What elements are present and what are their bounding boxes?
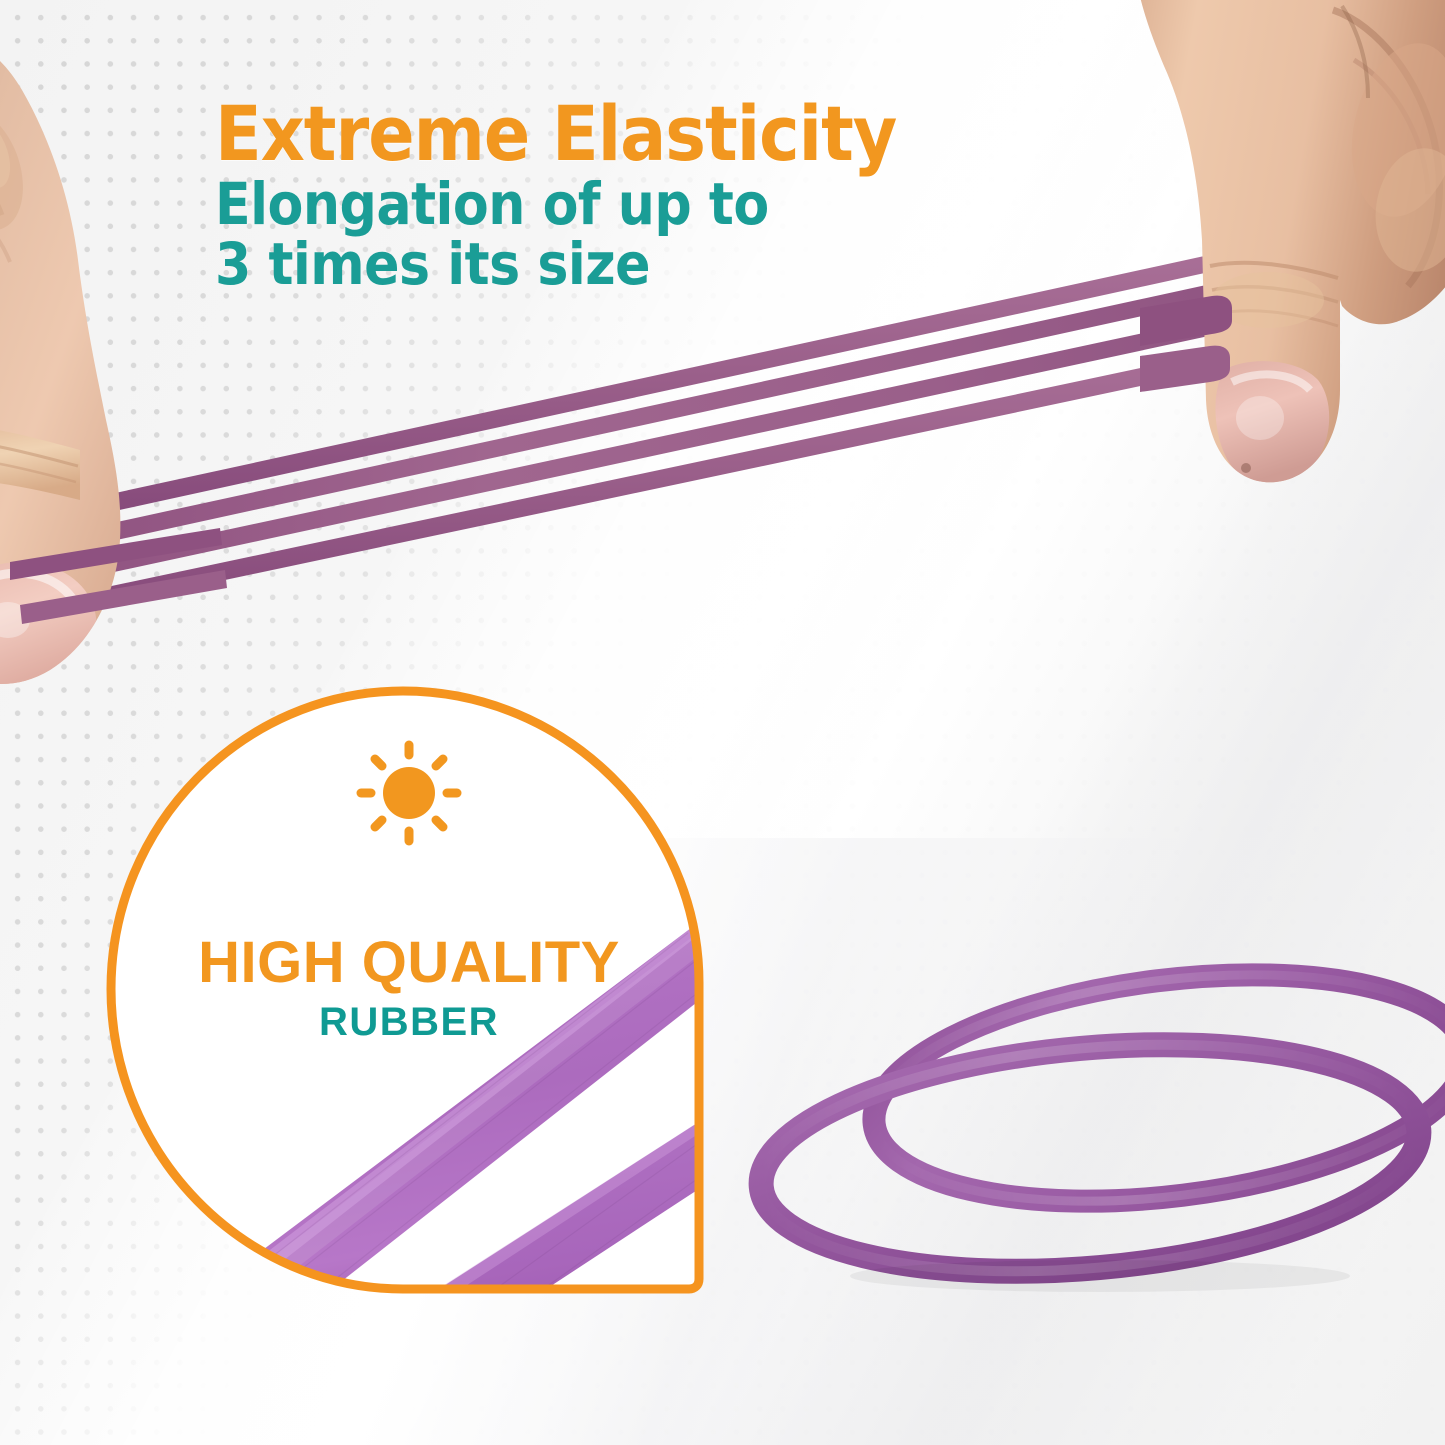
headline-title: Extreme Elasticity xyxy=(215,98,1115,169)
headline-block: Extreme Elasticity Elongation of up to 3… xyxy=(215,98,1115,295)
headline-subtitle-line2: 3 times its size xyxy=(215,235,1115,295)
loose-rubber-bands-group xyxy=(700,940,1445,1340)
headline-subtitle-line1: Elongation of up to xyxy=(215,175,1115,235)
headline-subtitle: Elongation of up to 3 times its size xyxy=(215,175,1115,294)
sun-icon xyxy=(361,745,457,841)
stretched-band-3 xyxy=(48,262,1312,555)
high-quality-badge xyxy=(103,683,715,1297)
stretched-band-1 xyxy=(40,295,1320,588)
product-image-canvas: Extreme Elasticity Elongation of up to 3… xyxy=(0,0,1445,1445)
